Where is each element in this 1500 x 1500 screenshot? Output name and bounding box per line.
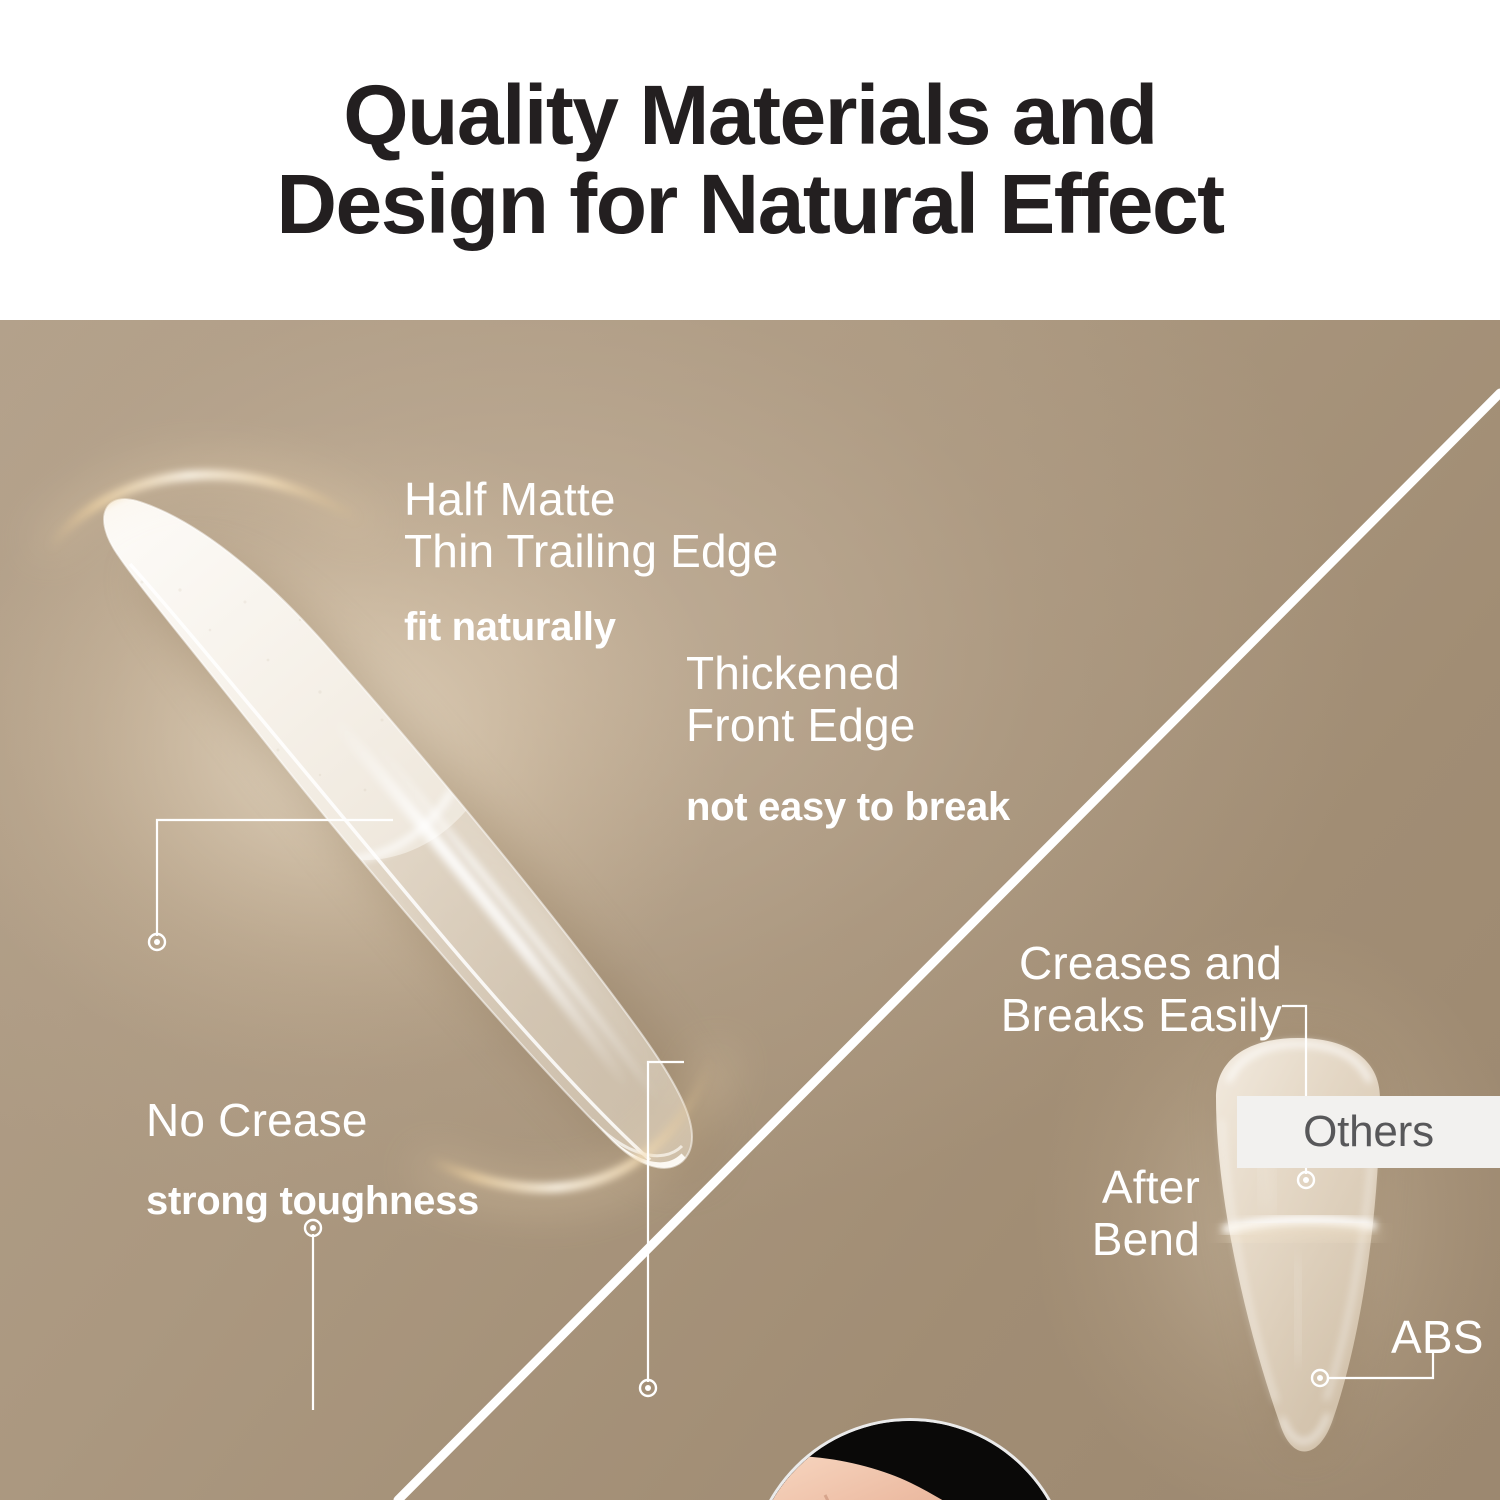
page-title: Quality Materials and Design for Natural… [276, 71, 1223, 249]
header-banner: Quality Materials and Design for Natural… [0, 0, 1500, 320]
badge-others: Others [1237, 1096, 1500, 1168]
stage-graphics [0, 320, 1500, 1500]
badge-others-label: Others [1303, 1107, 1434, 1157]
comparison-stage: Half Matte Thin Trailing Edge fit natura… [0, 320, 1500, 1500]
